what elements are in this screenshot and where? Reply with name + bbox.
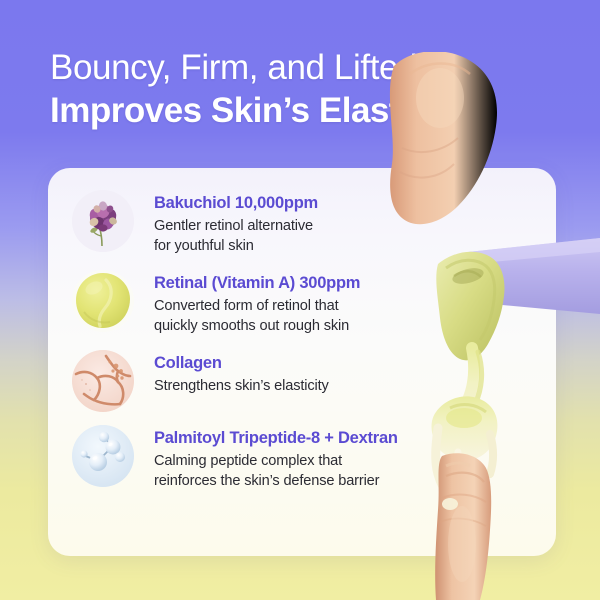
headline-line-1: Bouncy, Firm, and Lifted [50, 48, 520, 87]
ingredient-row: Retinal (Vitamin A) 300ppm Converted for… [48, 270, 556, 337]
ingredient-text: Bakuchiol 10,000ppm Gentler retinol alte… [154, 190, 318, 257]
ingredient-row: Palmitoyl Tripeptide-8 + Dextran Calming… [48, 425, 556, 492]
purple-flower-icon [72, 190, 134, 252]
ingredient-row: Collagen Strengthens skin’s elasticity [48, 350, 556, 412]
ingredient-desc-line: Gentler retinol alternative [154, 216, 318, 237]
ingredient-description: Calming peptide complex that reinforces … [154, 451, 398, 492]
yellow-cream-dollop-icon [72, 270, 134, 332]
ingredient-desc-line: reinforces the skin’s defense barrier [154, 471, 398, 492]
ingredient-name: Bakuchiol 10,000ppm [154, 193, 318, 214]
ingredient-desc-line: Converted form of retinol that [154, 296, 360, 317]
pink-cell-structure-icon [72, 350, 134, 412]
ingredient-row: Bakuchiol 10,000ppm Gentler retinol alte… [48, 190, 556, 257]
ingredient-desc-line: quickly smooths out rough skin [154, 316, 360, 337]
ingredient-card: Bakuchiol 10,000ppm Gentler retinol alte… [48, 168, 556, 556]
ingredient-desc-line: Strengthens skin’s elasticity [154, 376, 329, 397]
ingredient-text: Collagen Strengthens skin’s elasticity [154, 350, 329, 396]
ingredient-description: Converted form of retinol that quickly s… [154, 296, 360, 337]
blue-molecule-icon [72, 425, 134, 487]
ingredient-desc-line: Calming peptide complex that [154, 451, 398, 472]
ingredient-description: Strengthens skin’s elasticity [154, 376, 329, 397]
ingredient-name: Palmitoyl Tripeptide-8 + Dextran [154, 428, 398, 449]
ingredient-name: Retinal (Vitamin A) 300ppm [154, 273, 360, 294]
ingredient-desc-line: for youthful skin [154, 236, 318, 257]
headline-line-2: Improves Skin’s Elasticity [50, 91, 520, 130]
ingredient-text: Palmitoyl Tripeptide-8 + Dextran Calming… [154, 425, 398, 492]
ingredient-description: Gentler retinol alternative for youthful… [154, 216, 318, 257]
ingredient-text: Retinal (Vitamin A) 300ppm Converted for… [154, 270, 360, 337]
page-headline: Bouncy, Firm, and Lifted Improves Skin’s… [50, 48, 520, 130]
ingredient-name: Collagen [154, 353, 329, 374]
